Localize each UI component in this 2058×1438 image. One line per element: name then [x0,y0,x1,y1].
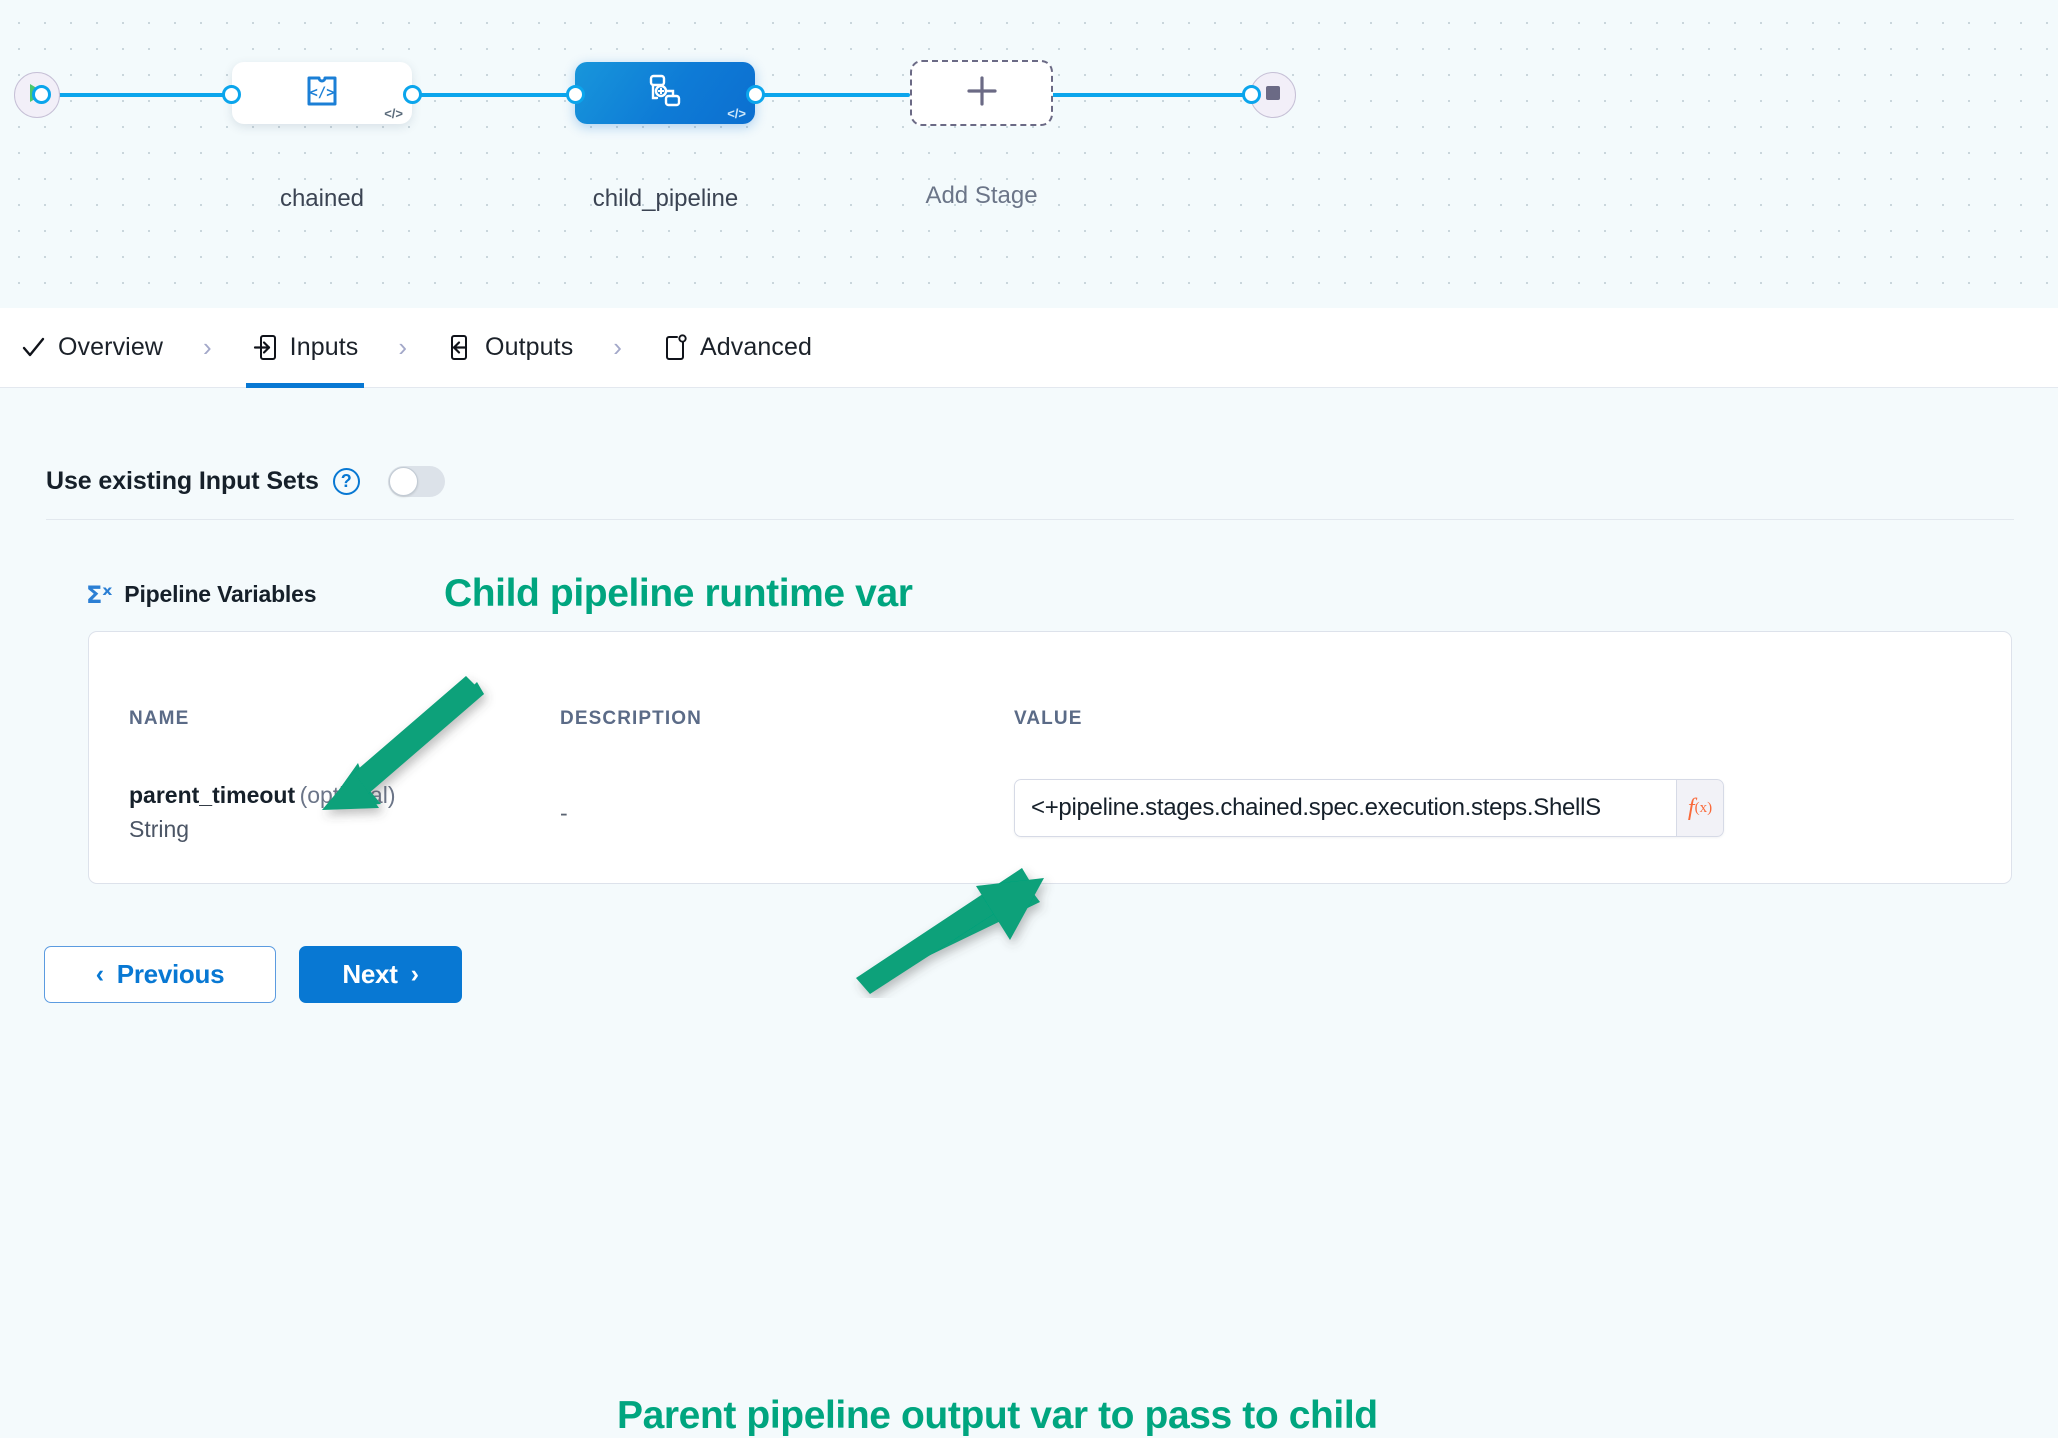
fx-symbol: f [1688,795,1695,822]
next-button-label: Next [342,959,397,990]
use-existing-input-sets-label: Use existing Input Sets [46,467,319,496]
port-chained-in[interactable] [222,85,241,104]
use-existing-input-sets-toggle[interactable] [388,466,445,497]
pipeline-variables-header: Σˣ Pipeline Variables [86,581,316,608]
stage-node-chained[interactable]: </> </> [232,62,412,124]
tab-separator-2: › [398,332,407,363]
question-mark-icon[interactable]: ? [333,468,360,495]
pipeline-canvas[interactable]: </> </> chained </> child_pipeline [0,0,2058,308]
advanced-gear-icon [662,334,689,361]
toggle-knob [389,467,418,496]
tab-outputs-label: Outputs [485,333,573,362]
port-start-out[interactable] [32,85,51,104]
plus-icon [962,71,1002,116]
tab-separator-3: › [613,332,622,363]
add-stage-label: Add Stage [908,182,1055,210]
tab-overview[interactable]: Overview [14,308,169,388]
pipeline-variables-table: NAME DESCRIPTION VALUE parent_timeout (o… [88,631,2012,884]
inputs-panel: Use existing Input Sets ? Σˣ Pipeline Va… [0,389,2058,1120]
svg-text:</>: </> [309,85,334,101]
tab-overview-label: Overview [58,333,163,362]
previous-button-label: Previous [117,959,224,990]
edge-addstage-to-end [1048,93,1248,97]
variable-value-control: f(x) [1014,779,1724,837]
pipeline-variables-title: Pipeline Variables [124,581,316,608]
stage-yaml-badge-chained[interactable]: </> [384,107,403,120]
column-header-value: VALUE [1014,708,1082,730]
port-chained-out[interactable] [403,85,422,104]
stage-label-child-pipeline: child_pipeline [563,185,768,213]
add-stage-node[interactable] [910,60,1053,126]
annotation-child-runtime-var: Child pipeline runtime var [444,572,913,616]
tab-outputs[interactable]: Outputs [441,308,579,388]
code-stage-icon: </> [300,69,344,118]
edge-start-to-chained [40,93,230,97]
next-button[interactable]: Next › [299,946,462,1003]
stage-yaml-badge-child-pipeline[interactable]: </> [727,107,746,120]
tab-separator-1: › [203,332,212,363]
variable-value-input[interactable] [1014,779,1676,837]
tab-inputs[interactable]: Inputs [246,308,365,388]
port-end-in[interactable] [1242,85,1261,104]
tab-advanced-label: Advanced [700,333,812,362]
variable-name: parent_timeout [129,782,295,808]
tab-inputs-label: Inputs [290,333,359,362]
column-header-name: NAME [129,708,189,730]
check-icon [20,334,47,361]
tab-advanced[interactable]: Advanced [656,308,818,388]
pipeline-stage-icon [644,70,686,117]
edge-child-to-addstage [745,93,910,97]
edge-chained-to-child [405,93,575,97]
chevron-left-icon: ‹ [96,962,104,987]
port-child-in[interactable] [566,85,585,104]
variable-description: - [560,800,568,827]
expression-fx-button[interactable]: f(x) [1676,779,1724,837]
sigma-variables-icon: Σˣ [86,583,112,607]
port-child-out[interactable] [746,85,765,104]
wizard-footer-buttons: ‹ Previous Next › [44,946,462,1003]
stop-icon [1263,83,1283,108]
table-row: parent_timeout (optional) String [129,782,395,843]
stage-config-tabbar[interactable]: Overview › Inputs › Outputs › [0,308,2058,388]
variable-type: String [129,816,395,843]
outputs-arrow-icon [447,334,474,361]
inputs-arrow-icon [252,334,279,361]
chevron-right-icon: › [411,962,419,987]
fx-subscript: (x) [1695,800,1713,817]
variable-optional-flag: (optional) [300,782,396,808]
column-header-description: DESCRIPTION [560,708,702,730]
previous-button[interactable]: ‹ Previous [44,946,276,1003]
stage-label-chained: chained [232,185,412,213]
section-divider [46,519,2014,520]
use-existing-input-sets-row: Use existing Input Sets ? [46,466,445,497]
stage-node-child-pipeline[interactable]: </> [575,62,755,124]
annotation-parent-output-var: Parent pipeline output var to pass to ch… [617,1394,1378,1438]
